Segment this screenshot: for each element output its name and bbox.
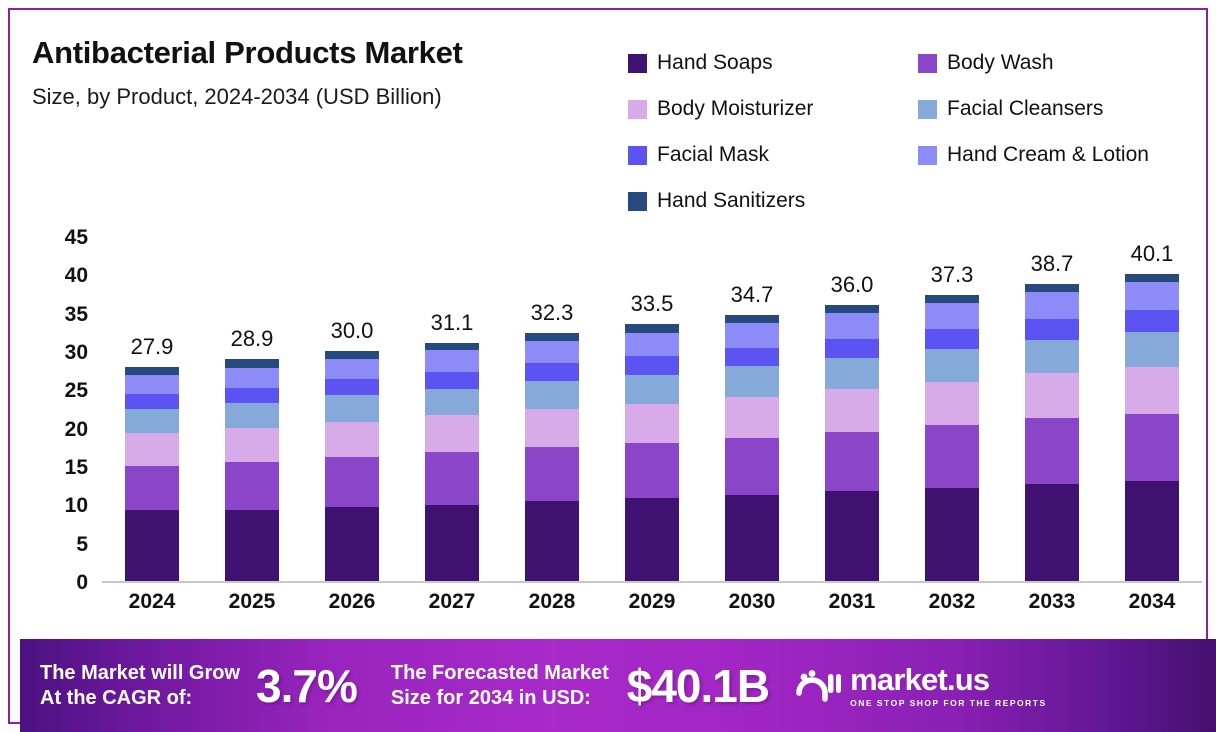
bar-column[interactable]: 38.7: [1025, 284, 1079, 581]
bar-segment[interactable]: [125, 433, 179, 466]
bar-segment[interactable]: [825, 389, 879, 431]
bar-segment[interactable]: [925, 488, 979, 581]
bar-segment[interactable]: [825, 305, 879, 313]
bar-segment[interactable]: [125, 510, 179, 581]
bar-segment[interactable]: [325, 351, 379, 359]
bar-segment[interactable]: [825, 432, 879, 492]
bar-segment[interactable]: [525, 333, 579, 341]
bar-segment[interactable]: [825, 491, 879, 581]
bar-segment[interactable]: [1125, 282, 1179, 310]
chart-plot-area: 051015202530354045 27.9202428.9202530.02…: [32, 238, 1202, 628]
y-axis-tick-label: 45: [65, 226, 88, 250]
bar-segment[interactable]: [925, 349, 979, 382]
cagr-label-line2: At the CAGR of:: [40, 686, 240, 710]
legend-swatch-icon: [918, 100, 937, 119]
bar-segment[interactable]: [125, 394, 179, 409]
bar-segment[interactable]: [325, 379, 379, 395]
legend-swatch-icon: [628, 192, 647, 211]
bar-segment[interactable]: [425, 415, 479, 452]
bar-segment[interactable]: [425, 343, 479, 351]
bar-segment[interactable]: [1025, 484, 1079, 581]
legend-swatch-icon: [918, 146, 937, 165]
bar-segment[interactable]: [325, 422, 379, 457]
y-axis: 051015202530354045: [32, 238, 94, 583]
bar-total-label: 36.0: [831, 272, 874, 298]
cagr-label-line1: The Market will Grow: [40, 661, 240, 685]
header: Antibacterial Products Market Size, by P…: [32, 36, 632, 110]
bar-total-label: 33.5: [631, 291, 674, 317]
bar-segment[interactable]: [925, 329, 979, 349]
bar-segment[interactable]: [1025, 284, 1079, 292]
bar-segment[interactable]: [125, 375, 179, 394]
legend-item-label: Hand Sanitizers: [657, 189, 805, 213]
bar-segment[interactable]: [625, 324, 679, 333]
bar-segment[interactable]: [1125, 367, 1179, 414]
bar-segment[interactable]: [625, 333, 679, 356]
chart-legend: Hand SoapsBody WashBody MoisturizerFacia…: [628, 40, 1208, 224]
bar-total-label: 31.1: [431, 310, 474, 336]
x-axis-tick-label: 2033: [1007, 590, 1097, 614]
bar-segment[interactable]: [725, 348, 779, 366]
bar-segment[interactable]: [325, 507, 379, 581]
logo-wordmark: market.us: [850, 664, 1047, 695]
bar-segment[interactable]: [125, 466, 179, 510]
y-axis-tick-label: 20: [65, 418, 88, 442]
cagr-label: The Market will Grow At the CAGR of:: [40, 661, 240, 710]
bar-segment[interactable]: [525, 363, 579, 381]
bar-segment[interactable]: [525, 341, 579, 363]
page-frame: Antibacterial Products Market Size, by P…: [8, 8, 1208, 724]
bar-segment[interactable]: [125, 367, 179, 375]
bar-segment[interactable]: [125, 409, 179, 434]
bar-column[interactable]: 30.0: [325, 351, 379, 581]
bar-segment[interactable]: [725, 366, 779, 397]
logo-tagline: ONE STOP SHOP FOR THE REPORTS: [850, 698, 1047, 708]
bar-segment[interactable]: [1025, 292, 1079, 319]
y-axis-tick-label: 10: [65, 494, 88, 518]
x-axis-tick-label: 2031: [807, 590, 897, 614]
bar-segment[interactable]: [425, 350, 479, 371]
x-axis-tick-label: 2025: [207, 590, 297, 614]
y-axis-tick-label: 15: [65, 456, 88, 480]
bar-total-label: 34.7: [731, 282, 774, 308]
bar-segment[interactable]: [625, 498, 679, 581]
bar-segment[interactable]: [1125, 332, 1179, 367]
bar-segment[interactable]: [525, 447, 579, 501]
bar-segment[interactable]: [1125, 481, 1179, 581]
y-axis-tick-label: 40: [65, 264, 88, 288]
market-us-logo-icon: [795, 663, 841, 708]
legend-item[interactable]: Hand Cream & Lotion: [918, 132, 1208, 178]
infographic-page: Antibacterial Products Market Size, by P…: [0, 0, 1216, 732]
legend-item[interactable]: Body Wash: [918, 40, 1208, 86]
bar-segment[interactable]: [1025, 319, 1079, 340]
bar-segment[interactable]: [425, 372, 479, 389]
bar-segment[interactable]: [1025, 340, 1079, 374]
bar-column[interactable]: 36.0: [825, 305, 879, 581]
x-axis-tick-label: 2024: [107, 590, 197, 614]
legend-item[interactable]: Hand Sanitizers: [628, 178, 918, 224]
bar-column[interactable]: 34.7: [725, 315, 779, 581]
market-us-logo[interactable]: market.us ONE STOP SHOP FOR THE REPORTS: [795, 663, 1047, 708]
forecast-size-value: $40.1B: [627, 659, 769, 713]
legend-swatch-icon: [628, 146, 647, 165]
bar-segment[interactable]: [1125, 274, 1179, 282]
legend-swatch-icon: [628, 54, 647, 73]
bar-segment[interactable]: [925, 303, 979, 329]
bar-segment[interactable]: [425, 452, 479, 505]
bars-container: 27.9202428.9202530.0202631.1202732.32028…: [102, 238, 1202, 583]
bar-segment[interactable]: [925, 425, 979, 488]
bar-segment[interactable]: [725, 495, 779, 581]
forecast-size-label-line2: Size for 2034 in USD:: [391, 686, 609, 710]
legend-item-label: Body Moisturizer: [657, 97, 813, 121]
bar-segment[interactable]: [225, 403, 279, 428]
legend-item-label: Facial Cleansers: [947, 97, 1103, 121]
bar-segment[interactable]: [625, 375, 679, 404]
x-axis-tick-label: 2029: [607, 590, 697, 614]
legend-swatch-icon: [628, 100, 647, 119]
bar-column[interactable]: 33.5: [625, 324, 679, 581]
forecast-size-label: The Forecasted Market Size for 2034 in U…: [391, 661, 609, 710]
page-subtitle: Size, by Product, 2024-2034 (USD Billion…: [32, 84, 632, 110]
bar-total-label: 32.3: [531, 300, 574, 326]
legend-item-label: Facial Mask: [657, 143, 769, 167]
legend-item-label: Hand Cream & Lotion: [947, 143, 1149, 167]
legend-item[interactable]: Facial Mask: [628, 132, 918, 178]
bar-segment[interactable]: [625, 404, 679, 443]
legend-item[interactable]: Hand Soaps: [628, 40, 918, 86]
bar-segment[interactable]: [925, 382, 979, 426]
bar-total-label: 37.3: [931, 262, 974, 288]
y-axis-tick-label: 25: [65, 379, 88, 403]
y-axis-tick-label: 5: [76, 533, 88, 557]
bar-segment[interactable]: [225, 368, 279, 388]
bar-column[interactable]: 31.1: [425, 343, 479, 581]
cagr-value: 3.7%: [256, 659, 357, 713]
footer-banner: The Market will Grow At the CAGR of: 3.7…: [20, 639, 1216, 732]
legend-item-label: Hand Soaps: [657, 51, 773, 75]
bar-segment[interactable]: [225, 359, 279, 367]
bar-total-label: 30.0: [331, 318, 374, 344]
bar-segment[interactable]: [525, 381, 579, 409]
bar-segment[interactable]: [725, 323, 779, 348]
bar-segment[interactable]: [825, 339, 879, 358]
x-axis-tick-label: 2030: [707, 590, 797, 614]
bar-segment[interactable]: [225, 428, 279, 462]
legend-swatch-icon: [918, 54, 937, 73]
bar-segment[interactable]: [225, 388, 279, 403]
bar-segment[interactable]: [325, 457, 379, 507]
legend-item-label: Body Wash: [947, 51, 1054, 75]
x-axis-tick-label: 2026: [307, 590, 397, 614]
bar-segment[interactable]: [425, 389, 479, 416]
y-axis-tick-label: 30: [65, 341, 88, 365]
bar-column[interactable]: 27.9: [125, 367, 179, 581]
bar-segment[interactable]: [525, 501, 579, 581]
bar-segment[interactable]: [725, 438, 779, 496]
x-axis-tick-label: 2027: [407, 590, 497, 614]
bar-segment[interactable]: [625, 443, 679, 498]
bar-segment[interactable]: [1125, 310, 1179, 331]
bar-segment[interactable]: [1025, 373, 1079, 418]
bar-segment[interactable]: [725, 315, 779, 323]
x-axis-tick-label: 2028: [507, 590, 597, 614]
bar-column[interactable]: 40.1: [1125, 274, 1179, 581]
bar-segment[interactable]: [725, 397, 779, 438]
bar-segment[interactable]: [925, 295, 979, 303]
bar-segment[interactable]: [325, 395, 379, 421]
bar-segment[interactable]: [1025, 418, 1079, 483]
bar-total-label: 28.9: [231, 326, 274, 352]
bar-total-label: 38.7: [1031, 251, 1074, 277]
forecast-size-label-line1: The Forecasted Market: [391, 661, 609, 685]
bar-segment[interactable]: [225, 510, 279, 581]
y-axis-tick-label: 35: [65, 303, 88, 327]
bar-column[interactable]: 32.3: [525, 333, 579, 581]
bar-total-label: 40.1: [1131, 241, 1174, 267]
bar-segment[interactable]: [625, 356, 679, 374]
x-axis-tick-label: 2034: [1107, 590, 1197, 614]
x-axis-tick-label: 2032: [907, 590, 997, 614]
bar-column[interactable]: 37.3: [925, 295, 979, 581]
bar-segment[interactable]: [825, 358, 879, 389]
bar-segment[interactable]: [825, 313, 879, 338]
bar-segment[interactable]: [1125, 414, 1179, 481]
bar-column[interactable]: 28.9: [225, 359, 279, 581]
legend-item[interactable]: Body Moisturizer: [628, 86, 918, 132]
bar-total-label: 27.9: [131, 334, 174, 360]
legend-item[interactable]: Facial Cleansers: [918, 86, 1208, 132]
bar-segment[interactable]: [525, 409, 579, 447]
bar-segment[interactable]: [325, 359, 379, 380]
bar-segment[interactable]: [425, 505, 479, 581]
y-axis-tick-label: 0: [76, 571, 88, 595]
bar-segment[interactable]: [225, 462, 279, 510]
market-us-logo-text: market.us ONE STOP SHOP FOR THE REPORTS: [850, 664, 1047, 708]
page-title: Antibacterial Products Market: [32, 36, 632, 70]
